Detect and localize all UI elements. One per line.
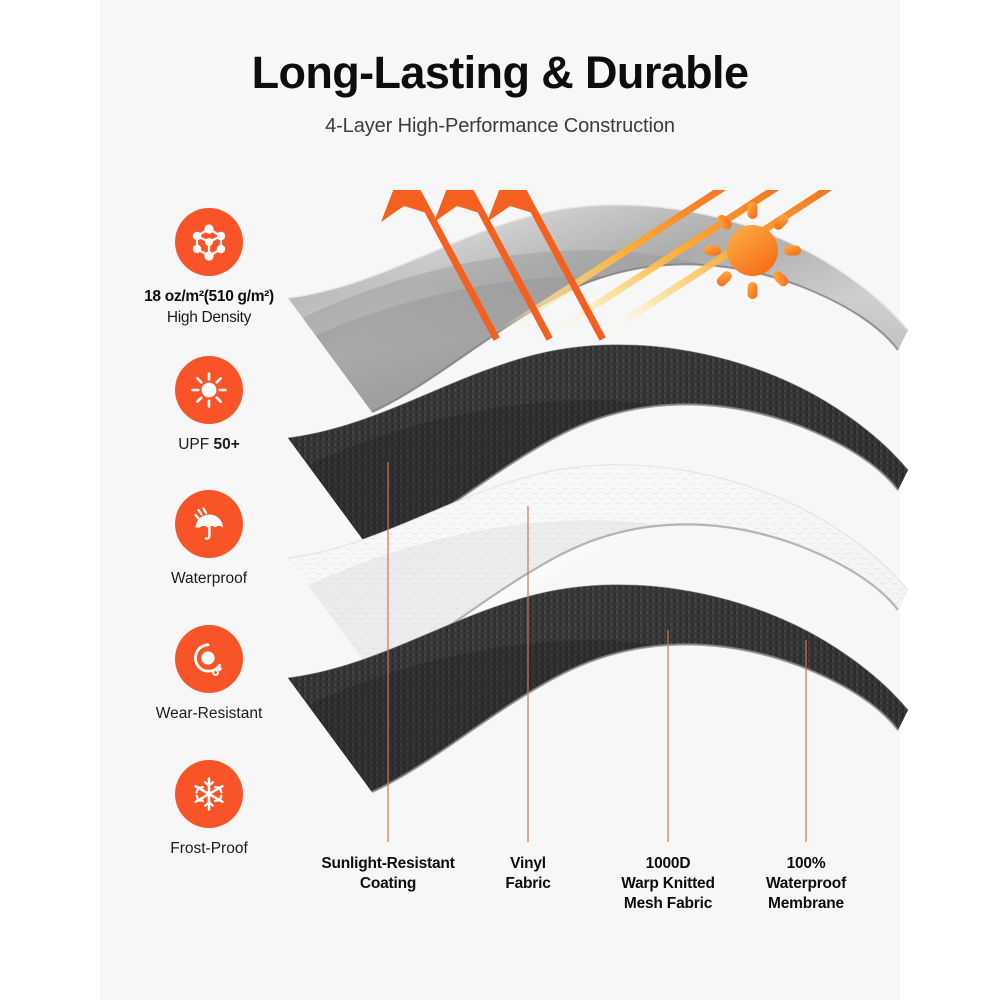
feature-badge — [175, 356, 243, 424]
sun-icon — [189, 370, 229, 410]
feature-badge — [175, 625, 243, 693]
feature-waterproof: Waterproof — [128, 490, 290, 589]
umbrella-rain-icon — [189, 504, 229, 544]
callout-waterproof-membrane: 100% Waterproof Membrane — [766, 854, 846, 914]
molecule-density-icon — [188, 221, 230, 263]
feature-label-bold: 50+ — [214, 436, 240, 453]
page-title: Long-Lasting & Durable — [0, 48, 1000, 98]
feature-wear-resistant: Wear-Resistant — [128, 625, 290, 724]
header: Long-Lasting & Durable 4-Layer High-Perf… — [0, 48, 1000, 138]
infographic-canvas: Long-Lasting & Durable 4-Layer High-Perf… — [0, 0, 1000, 1000]
feature-badge — [175, 490, 243, 558]
feature-frost-proof: Frost-Proof — [128, 760, 290, 859]
feature-label-secondary: High Density — [128, 308, 290, 328]
feature-high-density: 18 oz/m²(510 g/m²) High Density — [128, 208, 290, 328]
feature-badge — [175, 760, 243, 828]
callout-labels: Sunlight-Resistant Coating Vinyl Fabric … — [280, 848, 920, 938]
feature-label: 18 oz/m²(510 g/m²) High Density — [128, 287, 290, 328]
feature-label-primary: UPF — [178, 436, 213, 453]
sun-icon-wrapper — [700, 198, 805, 308]
page-subtitle: 4-Layer High-Performance Construction — [0, 115, 1000, 138]
callout-sunlight-resistant-coating: Sunlight-Resistant Coating — [321, 854, 454, 894]
feature-label: Waterproof — [128, 569, 290, 589]
abrasion-circle-icon — [189, 639, 229, 679]
feature-label: Wear-Resistant — [128, 704, 290, 724]
feature-label: UPF 50+ — [128, 435, 290, 455]
callout-vinyl-fabric: Vinyl Fabric — [505, 854, 550, 894]
feature-label: Frost-Proof — [128, 839, 290, 859]
snowflake-icon — [189, 774, 229, 814]
callout-warp-knitted-mesh-fabric: 1000D Warp Knitted Mesh Fabric — [621, 854, 714, 914]
feature-badge — [175, 208, 243, 276]
layer-diagram — [280, 190, 920, 870]
reflected-uv-arrowheads — [381, 190, 536, 222]
feature-label-primary: 18 oz/m²(510 g/m²) — [144, 288, 274, 305]
sun-gradient-icon — [700, 290, 805, 307]
feature-upf: UPF 50+ — [128, 356, 290, 455]
feature-rail: 18 oz/m²(510 g/m²) High Density — [128, 208, 290, 881]
